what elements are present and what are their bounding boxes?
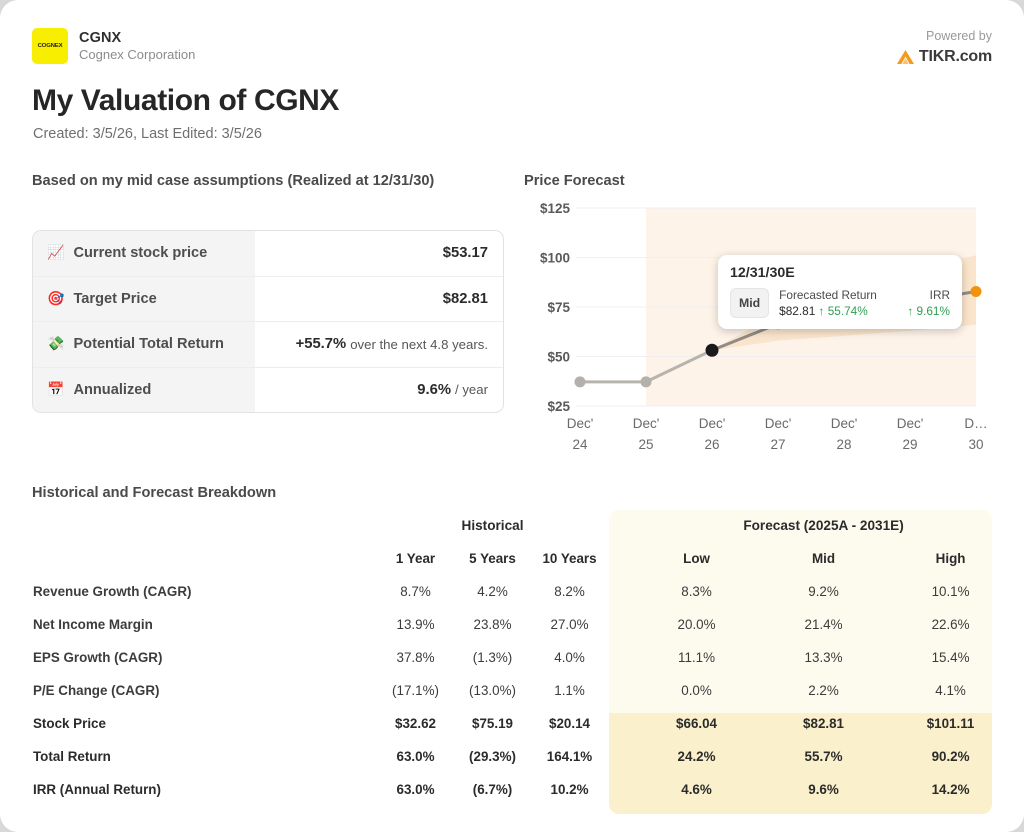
table-row: P/E Change (CAGR)(17.1%)(13.0%)1.1%0.0%2… [32,674,1014,707]
target-emoji-icon: 🎯 [47,292,64,306]
tooltip-irr: IRR ↑ 9.61% [907,288,950,318]
forecast-cell: 90.2% [887,740,1014,773]
cognex-logo-icon: COGNEX [32,28,68,64]
summary-value-text: $53.17 [443,245,488,261]
forecast-cell: 4.6% [633,773,760,806]
x-axis-tick-label: Dec' [897,416,924,431]
spacer-cell [608,641,633,674]
y-axis-tick-label: $100 [540,251,570,266]
tikr-brand-text: TIKR.com [919,46,992,68]
historical-cell: 37.8% [377,641,454,674]
table-row: Stock Price$32.62$75.19$20.14$66.04$82.8… [32,707,1014,740]
historical-cell: 8.2% [531,575,608,608]
forecast-cell: 21.4% [760,608,887,641]
summary-value-text: 9.6% [417,382,451,398]
historical-cell: (6.7%) [454,773,531,806]
historical-cell: 23.8% [454,608,531,641]
summary-value-cell: 9.6% / year [255,368,503,413]
summary-row-annualized: 📅 Annualized 9.6% / year [33,368,503,413]
forecast-cell: 0.0% [633,674,760,707]
summary-label-cell: 📅 Annualized [33,368,255,413]
historical-group-label: Historical [377,510,608,541]
chart-title: Price Forecast [524,173,625,189]
historical-cell: 10.2% [531,773,608,806]
spacer-cell [32,541,377,575]
price-forecast-chart[interactable]: $25$50$75$100$125 Dec'24Dec'25Dec'26Dec'… [524,200,992,458]
forecast-cell: 4.1% [887,674,1014,707]
historical-point[interactable] [575,376,586,387]
spacer-cell [608,773,633,806]
summary-label-text: Potential Total Return [73,336,224,352]
tooltip-body: Mid Forecasted Return $82.81 ↑ 55.74% IR… [730,288,950,318]
historical-cell: $20.14 [531,707,608,740]
historical-cell: 63.0% [377,740,454,773]
tooltip-case-chip: Mid [730,288,769,318]
historical-cell: 27.0% [531,608,608,641]
powered-by-block: Powered by TIKR.com [896,28,992,67]
summary-row-current-price: 📈 Current stock price $53.17 [33,231,503,277]
spacer-cell [608,740,633,773]
x-axis-tick-label: Dec' [633,416,660,431]
company-name: Cognex Corporation [79,47,195,63]
historical-cell: $75.19 [454,707,531,740]
summary-table: 📈 Current stock price $53.17 🎯 Target Pr… [32,230,504,413]
historical-cell: 4.0% [531,641,608,674]
spacer-cell [608,575,633,608]
spacer-cell [608,541,633,575]
forecast-cell: 8.3% [633,575,760,608]
table-row: IRR (Annual Return)63.0%(6.7%)10.2%4.6%9… [32,773,1014,806]
spacer-cell [32,510,377,541]
historical-cell: 4.2% [454,575,531,608]
summary-value-cell: $53.17 [255,231,503,276]
forecast-cell: $101.11 [887,707,1014,740]
row-label: IRR (Annual Return) [32,773,377,806]
page-subtitle: Created: 3/5/26, Last Edited: 3/5/26 [33,126,262,142]
table-row: Net Income Margin13.9%23.8%27.0%20.0%21.… [32,608,1014,641]
x-axis-tick-label: Dec' [831,416,858,431]
table-row: Total Return63.0%(29.3%)164.1%24.2%55.7%… [32,740,1014,773]
x-axis-tick-label: D… [964,416,987,431]
calendar-emoji-icon: 📅 [47,383,64,397]
tikr-logo[interactable]: TIKR.com [896,46,992,68]
historical-cell: 164.1% [531,740,608,773]
forecast-cell: 22.6% [887,608,1014,641]
forecast-cell: 13.3% [760,641,887,674]
summary-value-suffix: over the next 4.8 years. [350,337,488,352]
forecast-cell: 55.7% [760,740,887,773]
forecast-cell: 9.6% [760,773,887,806]
breakdown-table: Historical Forecast (2025A - 2031E) 1 Ye… [32,510,1014,806]
tooltip-date: 12/31/30E [730,265,950,281]
summary-row-target-price: 🎯 Target Price $82.81 [33,277,503,323]
forecast-target-point[interactable] [971,286,982,297]
page-header: COGNEX CGNX Cognex Corporation Powered b… [32,28,992,74]
cognex-logo-text: COGNEX [38,43,63,48]
historical-cell: (1.3%) [454,641,531,674]
row-label: P/E Change (CAGR) [32,674,377,707]
forecast-cell: 11.1% [633,641,760,674]
row-label: Net Income Margin [32,608,377,641]
col-header-10-years: 10 Years [531,541,608,575]
y-axis-tick-label: $25 [547,399,570,414]
y-axis-tick-label: $75 [547,300,570,315]
current-price-point[interactable] [706,344,719,357]
x-axis-tick-label: 25 [638,437,653,452]
forecast-cell: 24.2% [633,740,760,773]
row-label: Stock Price [32,707,377,740]
forecast-cell: 10.1% [887,575,1014,608]
x-axis-tick-label: 30 [968,437,983,452]
chart-x-axis-labels: Dec'24Dec'25Dec'26Dec'27Dec'28Dec'29D…30 [567,416,988,452]
table-row: EPS Growth (CAGR)37.8%(1.3%)4.0%11.1%13.… [32,641,1014,674]
page-title: My Valuation of CGNX [32,84,339,118]
company-brand: COGNEX CGNX Cognex Corporation [32,28,195,64]
historical-cell: (29.3%) [454,740,531,773]
ticker-symbol: CGNX [79,29,195,47]
x-axis-tick-label: 27 [770,437,785,452]
table-row: Revenue Growth (CAGR)8.7%4.2%8.2%8.3%9.2… [32,575,1014,608]
powered-by-label: Powered by [896,28,992,45]
breakdown-heading: Historical and Forecast Breakdown [32,485,276,501]
chart-tooltip: 12/31/30E Mid Forecasted Return $82.81 ↑… [718,255,962,329]
row-label: Revenue Growth (CAGR) [32,575,377,608]
summary-label-cell: 🎯 Target Price [33,277,255,322]
historical-cell: 8.7% [377,575,454,608]
breakdown-table-body: Revenue Growth (CAGR)8.7%4.2%8.2%8.3%9.2… [32,575,1014,806]
spacer-cell [608,510,633,541]
forecast-cell: 14.2% [887,773,1014,806]
line-chart-emoji-icon: 📈 [47,246,64,260]
tooltip-columns: Forecasted Return $82.81 ↑ 55.74% IRR ↑ … [779,288,950,318]
breakdown-column-header-row: 1 Year 5 Years 10 Years Low Mid High [32,541,1014,575]
summary-value-text: $82.81 [443,291,488,307]
historical-cell: $32.62 [377,707,454,740]
historical-cell: 63.0% [377,773,454,806]
breakdown-group-header-row: Historical Forecast (2025A - 2031E) [32,510,1014,541]
forecast-cell: $66.04 [633,707,760,740]
summary-value-cell: +55.7% over the next 4.8 years. [255,322,503,367]
col-header-1-year: 1 Year [377,541,454,575]
tooltip-price: $82.81 [779,304,815,318]
forecast-cell: 2.2% [760,674,887,707]
chart-canvas: $25$50$75$100$125 Dec'24Dec'25Dec'26Dec'… [524,200,992,458]
forecast-cell: 20.0% [633,608,760,641]
summary-value-suffix: / year [455,382,488,397]
col-header-5-years: 5 Years [454,541,531,575]
summary-label-text: Target Price [73,291,156,307]
summary-label-text: Annualized [73,382,151,398]
spacer-cell [608,608,633,641]
col-header-low: Low [633,541,760,575]
spacer-cell [608,707,633,740]
forecast-group-label: Forecast (2025A - 2031E) [633,510,1014,541]
historical-cell: (13.0%) [454,674,531,707]
money-wings-emoji-icon: 💸 [47,337,64,351]
x-axis-tick-label: Dec' [567,416,594,431]
tikr-mountain-icon [896,49,915,65]
x-axis-tick-label: 24 [572,437,588,452]
spacer-cell [608,674,633,707]
col-header-high: High [887,541,1014,575]
forecast-cell: 15.4% [887,641,1014,674]
brand-names: CGNX Cognex Corporation [79,29,195,63]
forecast-cell: $82.81 [760,707,887,740]
row-label: EPS Growth (CAGR) [32,641,377,674]
assumptions-heading: Based on my mid case assumptions (Realiz… [32,173,434,189]
tooltip-forecasted-return: Forecasted Return $82.81 ↑ 55.74% [779,288,877,318]
col-header-mid: Mid [760,541,887,575]
summary-label-cell: 📈 Current stock price [33,231,255,276]
x-axis-tick-label: Dec' [765,416,792,431]
y-axis-tick-label: $50 [547,350,570,365]
tooltip-irr-value: ↑ 9.61% [907,304,950,318]
historical-cell: 13.9% [377,608,454,641]
x-axis-tick-label: Dec' [699,416,726,431]
tooltip-irr-label: IRR [907,288,950,302]
tooltip-forecasted-return-label: Forecasted Return [779,288,877,302]
x-axis-tick-label: 26 [704,437,719,452]
y-axis-tick-label: $125 [540,201,571,216]
forecast-cell: 9.2% [760,575,887,608]
breakdown-table-head: Historical Forecast (2025A - 2031E) 1 Ye… [32,510,1014,575]
x-axis-tick-label: 29 [902,437,917,452]
row-label: Total Return [32,740,377,773]
summary-value-text: +55.7% [296,336,347,352]
x-axis-tick-label: 28 [836,437,851,452]
historical-cell: 1.1% [531,674,608,707]
summary-value-cell: $82.81 [255,277,503,322]
historical-point[interactable] [641,376,652,387]
tooltip-change: ↑ 55.74% [819,304,868,318]
valuation-page: COGNEX CGNX Cognex Corporation Powered b… [0,0,1024,832]
tooltip-forecasted-return-value: $82.81 ↑ 55.74% [779,304,877,318]
summary-label-cell: 💸 Potential Total Return [33,322,255,367]
summary-label-text: Current stock price [73,245,207,261]
chart-y-axis-labels: $25$50$75$100$125 [540,201,571,414]
historical-cell: (17.1%) [377,674,454,707]
summary-row-potential-total-return: 💸 Potential Total Return +55.7% over the… [33,322,503,368]
